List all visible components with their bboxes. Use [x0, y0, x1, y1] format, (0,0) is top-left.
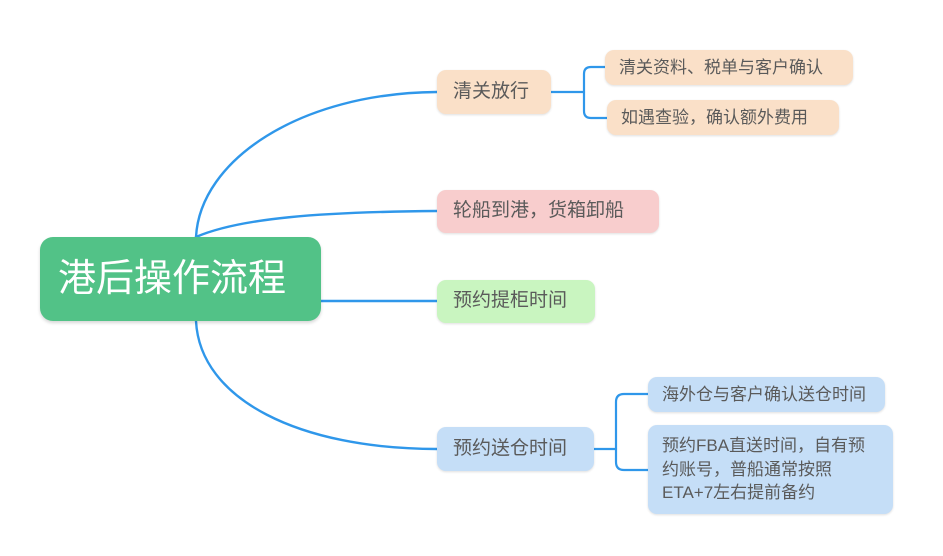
connector-root-to-branch-2: [196, 211, 437, 237]
leaf-node-fba-appointment[interactable]: 预约FBA直送时间，自有预约账号，普船通常按照 ETA+7左右提前备约: [648, 425, 893, 514]
connector-branch-1-to-child-1: [584, 67, 605, 92]
connector-branch-4-to-child-1: [616, 394, 648, 449]
branch-node-customs-clearance[interactable]: 清关放行: [437, 70, 551, 114]
connector-branch-4-to-child-2: [616, 449, 648, 470]
connector-root-to-branch-1: [196, 92, 437, 237]
leaf-node-fba-appointment-text: 预约FBA直送时间，自有预约账号，普船通常按照 ETA+7左右提前备约: [662, 434, 879, 504]
branch-node-warehouse-delivery[interactable]: 预约送仓时间: [437, 427, 594, 471]
connector-branch-1-to-child-2: [584, 92, 607, 118]
leaf-node-customs-docs[interactable]: 清关资料、税单与客户确认: [605, 50, 853, 85]
mindmap-canvas: 港后操作流程 清关放行 清关资料、税单与客户确认 如遇查验，确认额外费用 轮船到…: [0, 0, 943, 556]
connector-root-to-branch-4: [196, 321, 437, 449]
branch-node-container-pickup[interactable]: 预约提柜时间: [437, 280, 595, 323]
root-node[interactable]: 港后操作流程: [40, 237, 321, 321]
leaf-node-inspection-fee[interactable]: 如遇查验，确认额外费用: [607, 100, 839, 135]
branch-node-vessel-arrival[interactable]: 轮船到港，货箱卸船: [437, 190, 659, 233]
leaf-node-overseas-warehouse[interactable]: 海外仓与客户确认送仓时间: [648, 377, 885, 412]
